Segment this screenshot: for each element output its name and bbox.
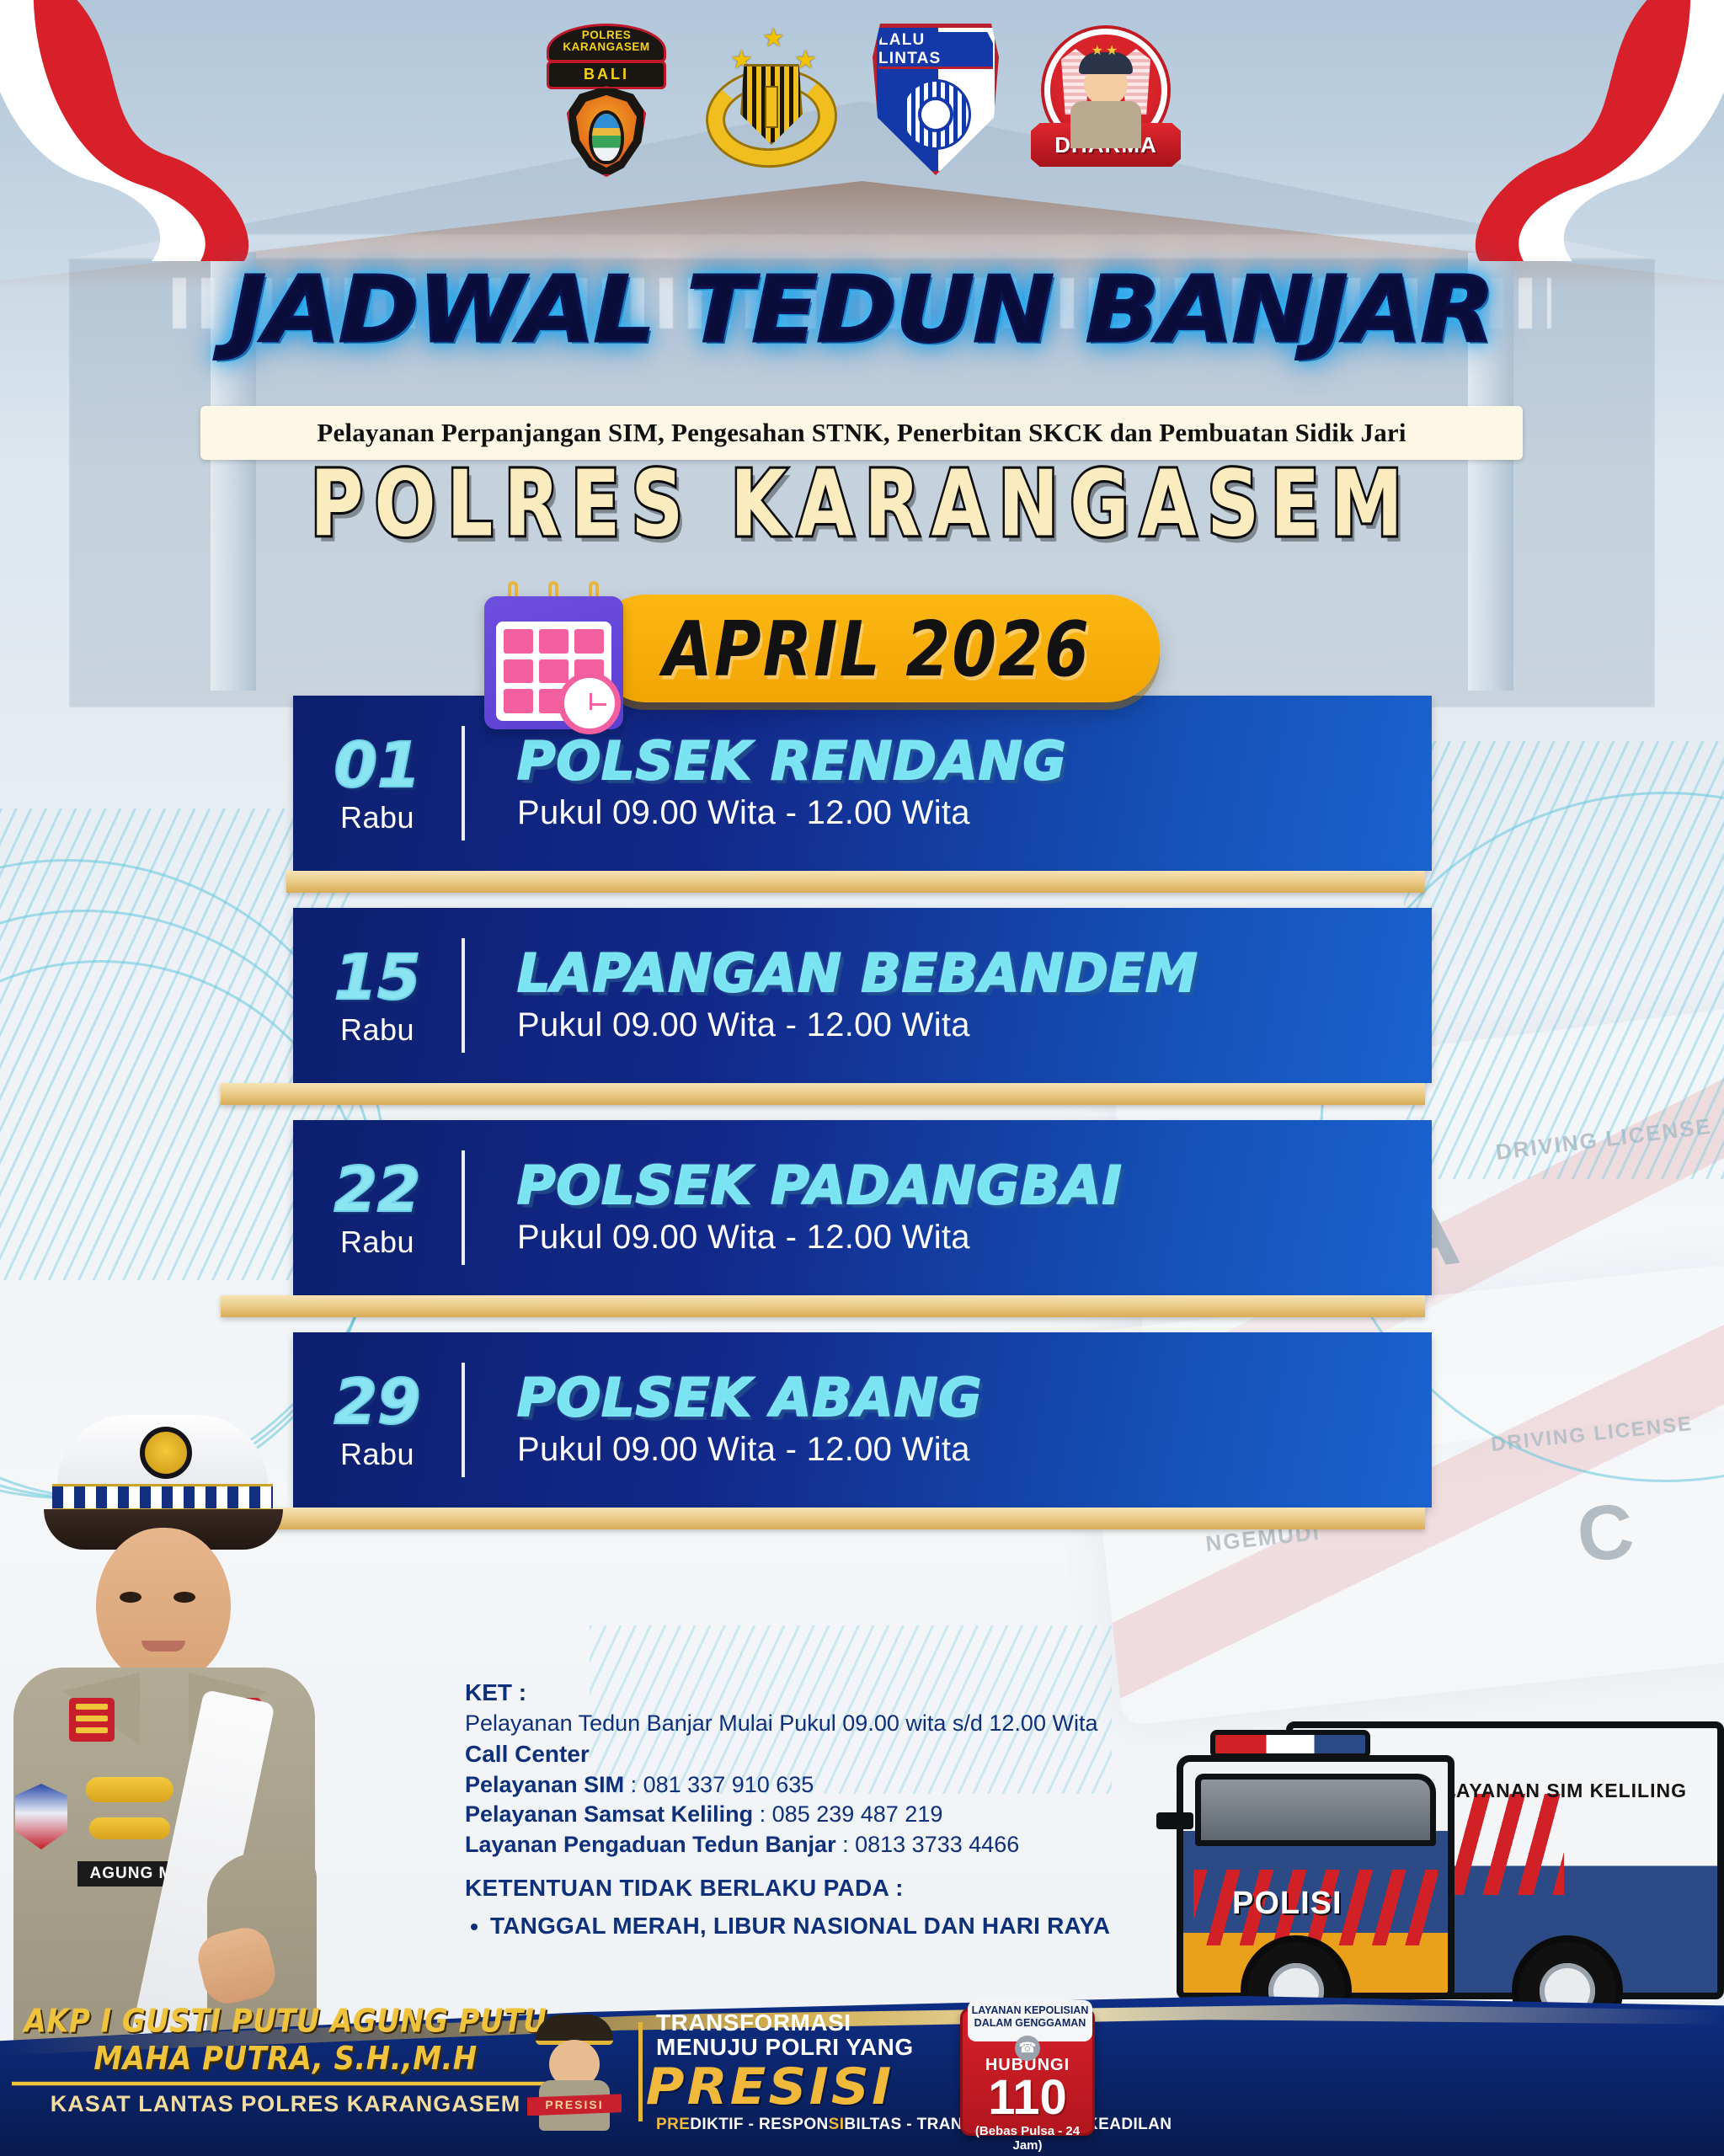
cap-checker-band xyxy=(52,1484,273,1513)
month-label: APRIL 2026 xyxy=(663,604,1091,692)
van-mirror xyxy=(1156,1812,1193,1829)
row-divider xyxy=(462,726,465,841)
sim-keliling-van-illustration: PELAYANAN SIM KELILING POLISI xyxy=(1084,1634,1724,2055)
schedule-weekday: Rabu xyxy=(293,1012,462,1048)
van-hood-text: POLISI xyxy=(1232,1886,1342,1922)
contact-separator: : xyxy=(753,1801,772,1827)
star-icon-top: ★ xyxy=(762,24,785,53)
officer-illustration: AGUNG MAHA xyxy=(8,1415,320,2097)
contact-label: Pelayanan Samsat Keliling xyxy=(465,1801,753,1827)
presisi-mascot-icon: PRESISI xyxy=(522,2013,625,2131)
contact-value[interactable]: 085 239 487 219 xyxy=(772,1801,943,1827)
call-note: (Bebas Pulsa - 24 Jam) xyxy=(963,2124,1092,2153)
row-divider xyxy=(462,1363,465,1477)
call-center-label: Call Center xyxy=(465,1739,1110,1770)
schedule-day-number: 01 xyxy=(293,736,462,795)
presisi-mascot-label: PRESISI xyxy=(527,2094,622,2116)
call-caption-line2: DALAM GENGGAMAN xyxy=(969,2017,1091,2030)
presisi-brand: PRESISI xyxy=(646,2062,1182,2112)
emergency-call-badge[interactable]: LAYANAN KEPOLISIAN DALAM GENGGAMAN ☎ HUB… xyxy=(960,2008,1095,2136)
schedule-list: 01 Rabu POLSEK RENDANG Pukul 09.00 Wita … xyxy=(293,696,1432,1545)
van-windshield xyxy=(1195,1774,1436,1846)
contact-separator: : xyxy=(624,1772,643,1797)
schedule-place: POLSEK RENDANG xyxy=(517,734,1067,787)
schedule-row-3[interactable]: 29 Rabu POLSEK ABANG Pukul 09.00 Wita - … xyxy=(293,1332,1432,1508)
contact-separator: : xyxy=(836,1832,856,1857)
presisi-exp-c: SI xyxy=(829,2116,845,2133)
header-logo-row: POLRES KARANGASEM BALI ★ ★ ★ LALU LINTAS… xyxy=(0,24,1724,192)
row-gold-bar xyxy=(286,871,1425,893)
officer-signature-block: AKP I GUSTI PUTU AGUNG PUTU MAHA PUTRA, … xyxy=(12,2007,559,2117)
keterangan-block: KET : Pelayanan Tedun Banjar Mulai Pukul… xyxy=(465,1678,1110,1942)
row-gold-bar xyxy=(221,1508,1425,1529)
schedule-time: Pukul 09.00 Wita - 12.00 Wita xyxy=(517,794,1067,832)
poster-root: DRIVING LICENSE A DRIVING LICENSE ESIA N… xyxy=(0,0,1724,2156)
page-title: JADWAL TEDUN BANJAR xyxy=(0,265,1724,356)
contact-row-sim: Pelayanan SIM : 081 337 910 635 xyxy=(465,1770,1110,1801)
dharma-stars: ★★ xyxy=(1092,42,1121,59)
presisi-exp-a: PRE xyxy=(656,2116,690,2133)
month-badge: APRIL 2026 xyxy=(594,595,1160,702)
dharma-logo: ★★ DHARMA xyxy=(1031,24,1181,175)
clock-icon xyxy=(558,672,621,734)
polres-logo-line1: POLRES xyxy=(549,29,664,41)
schedule-place: POLSEK PADANGBAI xyxy=(517,1159,1123,1212)
polri-tribrata-logo: ★ ★ ★ xyxy=(702,24,841,171)
schedule-day-number: 22 xyxy=(293,1161,462,1219)
row-divider xyxy=(462,1150,465,1265)
contact-value[interactable]: 0813 3733 4466 xyxy=(855,1832,1019,1857)
officer-eye-right xyxy=(173,1592,195,1603)
officer-name: AKP I GUSTI PUTU AGUNG PUTU MAHA PUTRA, … xyxy=(12,2003,559,2086)
polres-logo-line3: BALI xyxy=(547,61,666,89)
cap-badge-icon xyxy=(140,1427,192,1479)
schedule-weekday: Rabu xyxy=(293,800,462,835)
row-gold-bar xyxy=(221,1295,1425,1317)
polres-shield-icon xyxy=(567,86,646,177)
contact-label: Layanan Pengaduan Tedun Banjar xyxy=(465,1832,836,1857)
rules-title: KETENTUAN TIDAK BERLAKU PADA : xyxy=(465,1873,1110,1904)
schedule-place: POLSEK ABANG xyxy=(517,1371,982,1424)
calendar-icon xyxy=(484,581,623,733)
lalu-lintas-emblem-icon xyxy=(900,79,971,150)
van-lightbar-icon xyxy=(1210,1730,1370,1758)
van-body-text: PELAYANAN SIM KELILING xyxy=(1416,1780,1687,1802)
dharma-mascot-torso xyxy=(1070,101,1141,148)
lalu-lintas-label: LALU LINTAS xyxy=(878,32,993,69)
rules-list: TANGGAL MERAH, LIBUR NASIONAL DAN HARI R… xyxy=(490,1911,1110,1942)
officer-face xyxy=(96,1528,231,1684)
contact-row-pengaduan: Layanan Pengaduan Tedun Banjar : 0813 37… xyxy=(465,1830,1110,1860)
officer-mouth xyxy=(141,1641,185,1652)
polres-logo-line2: KARANGASEM xyxy=(549,41,664,53)
polres-karangasem-bali-logo: POLRES KARANGASEM BALI xyxy=(543,24,670,179)
call-number: 110 xyxy=(963,2073,1092,2122)
schedule-time: Pukul 09.00 Wita - 12.00 Wita xyxy=(517,1006,1198,1044)
schedule-row-1[interactable]: 15 Rabu LAPANGAN BEBANDEM Pukul 09.00 Wi… xyxy=(293,908,1432,1083)
ket-heading: KET : xyxy=(465,1678,1110,1709)
officer-eye-left xyxy=(120,1592,141,1603)
schedule-row-0[interactable]: 01 Rabu POLSEK RENDANG Pukul 09.00 Wita … xyxy=(293,696,1432,871)
schedule-row-2[interactable]: 22 Rabu POLSEK PADANGBAI Pukul 09.00 Wit… xyxy=(293,1120,1432,1295)
schedule-time: Pukul 09.00 Wita - 12.00 Wita xyxy=(517,1219,1123,1257)
rule-item: TANGGAL MERAH, LIBUR NASIONAL DAN HARI R… xyxy=(490,1911,1110,1942)
row-gold-bar xyxy=(221,1083,1425,1105)
schedule-time: Pukul 09.00 Wita - 12.00 Wita xyxy=(517,1431,982,1469)
lalu-lintas-logo: LALU LINTAS xyxy=(873,24,999,175)
call-caption-line1: LAYANAN KEPOLISIAN xyxy=(969,2004,1091,2017)
schedule-weekday: Rabu xyxy=(293,1225,462,1260)
schedule-place: LAPANGAN BEBANDEM xyxy=(517,947,1198,1000)
rank-insignia-left xyxy=(69,1698,115,1742)
phone-icon: ☎ xyxy=(1015,2036,1040,2061)
ket-line1: Pelayanan Tedun Banjar Mulai Pukul 09.00… xyxy=(465,1709,1110,1739)
contact-label: Pelayanan SIM xyxy=(465,1772,624,1797)
row-divider xyxy=(462,938,465,1053)
torch-icon xyxy=(765,86,778,128)
contact-row-samsat: Pelayanan Samsat Keliling : 085 239 487 … xyxy=(465,1800,1110,1830)
contact-value[interactable]: 081 337 910 635 xyxy=(643,1772,814,1797)
decorative-diagonal-lines-right xyxy=(1404,741,1724,1179)
service-badge-icon xyxy=(89,1817,170,1839)
officer-role: KASAT LANTAS POLRES KARANGASEM xyxy=(12,2091,559,2117)
presisi-exp-b: DIKTIF - RESPON xyxy=(690,2116,828,2133)
organization-title: POLRES KARANGASEM xyxy=(0,459,1724,550)
presisi-divider xyxy=(638,2022,643,2121)
wing-badge-icon xyxy=(86,1777,173,1802)
call-badge-caption: LAYANAN KEPOLISIAN DALAM GENGGAMAN xyxy=(968,2000,1092,2041)
schedule-day-number: 15 xyxy=(293,948,462,1007)
